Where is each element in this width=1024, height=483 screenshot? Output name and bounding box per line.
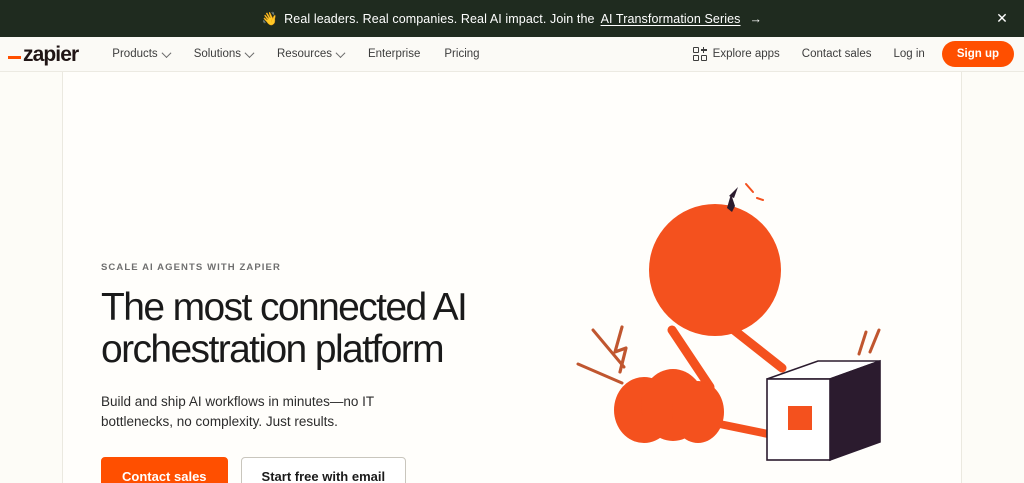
nav-item-label: Enterprise (368, 48, 420, 60)
nav-menu: Products Solutions Resources Enterprise … (100, 48, 491, 60)
cube-right-face (830, 361, 880, 460)
announcement-banner: 👋 Real leaders. Real companies. Real AI … (0, 0, 1024, 37)
connector-line-circle-cube (730, 327, 782, 368)
sign-up-button[interactable]: Sign up (942, 41, 1014, 67)
right-rail-divider (961, 72, 962, 483)
nav-item-explore-apps[interactable]: Explore apps (682, 47, 791, 61)
nav-item-label: Solutions (194, 48, 241, 60)
chevron-down-icon (161, 48, 171, 58)
waving-hand-emoji: 👋 (262, 12, 278, 25)
nav-item-solutions[interactable]: Solutions (182, 48, 265, 60)
contact-sales-button[interactable]: Contact sales (101, 457, 228, 483)
nav-item-pricing[interactable]: Pricing (432, 48, 491, 60)
logo-dash-icon (8, 56, 21, 59)
hero-eyebrow: SCALE AI AGENTS WITH ZAPIER (101, 262, 531, 273)
arrow-right-icon: → (750, 12, 763, 26)
main-navigation: zapier Products Solutions Resources Ente… (0, 37, 1024, 72)
page-title: The most connected AI orchestration plat… (101, 287, 531, 370)
hero-cta-row: Contact sales Start free with email (101, 457, 531, 483)
nav-item-label: Explore apps (713, 48, 780, 60)
zapier-logo[interactable]: zapier (8, 44, 78, 65)
hero-section: SCALE AI AGENTS WITH ZAPIER The most con… (0, 72, 1024, 483)
hero-subcopy: Build and ship AI workflows in minutes—n… (101, 392, 391, 431)
nav-item-products[interactable]: Products (100, 48, 181, 60)
nav-item-contact-sales[interactable]: Contact sales (791, 48, 883, 60)
orange-circle (649, 204, 781, 336)
apps-grid-plus-icon (693, 47, 707, 61)
close-icon[interactable]: ✕ (990, 7, 1014, 31)
orange-square (788, 406, 812, 430)
nav-item-enterprise[interactable]: Enterprise (356, 48, 432, 60)
ai-transformation-series-link[interactable]: AI Transformation Series (601, 12, 741, 26)
left-rail-divider (62, 72, 63, 483)
nav-right-group: Explore apps Contact sales Log in Sign u… (682, 41, 1014, 67)
chevron-down-icon (245, 48, 255, 58)
announcement-message: Real leaders. Real companies. Real AI im… (284, 12, 594, 26)
white-cube (767, 361, 880, 460)
ai-orchestration-illustration (560, 172, 960, 483)
nav-item-label: Products (112, 48, 157, 60)
nav-item-log-in[interactable]: Log in (882, 48, 935, 60)
nav-item-label: Contact sales (802, 48, 872, 60)
nav-left-group: zapier Products Solutions Resources Ente… (0, 44, 492, 65)
hero-copy-block: SCALE AI AGENTS WITH ZAPIER The most con… (101, 262, 531, 483)
nav-item-label: Log in (893, 48, 924, 60)
start-free-with-email-button[interactable]: Start free with email (241, 457, 407, 483)
announcement-text: 👋 Real leaders. Real companies. Real AI … (262, 12, 762, 26)
nav-item-resources[interactable]: Resources (265, 48, 356, 60)
bird-motion-marks (746, 184, 763, 200)
nav-item-label: Pricing (444, 48, 479, 60)
logo-wordmark: zapier (23, 44, 78, 65)
chevron-down-icon (336, 48, 346, 58)
motion-lines (578, 330, 624, 383)
nav-item-label: Resources (277, 48, 332, 60)
motion-lines-right (859, 330, 879, 354)
